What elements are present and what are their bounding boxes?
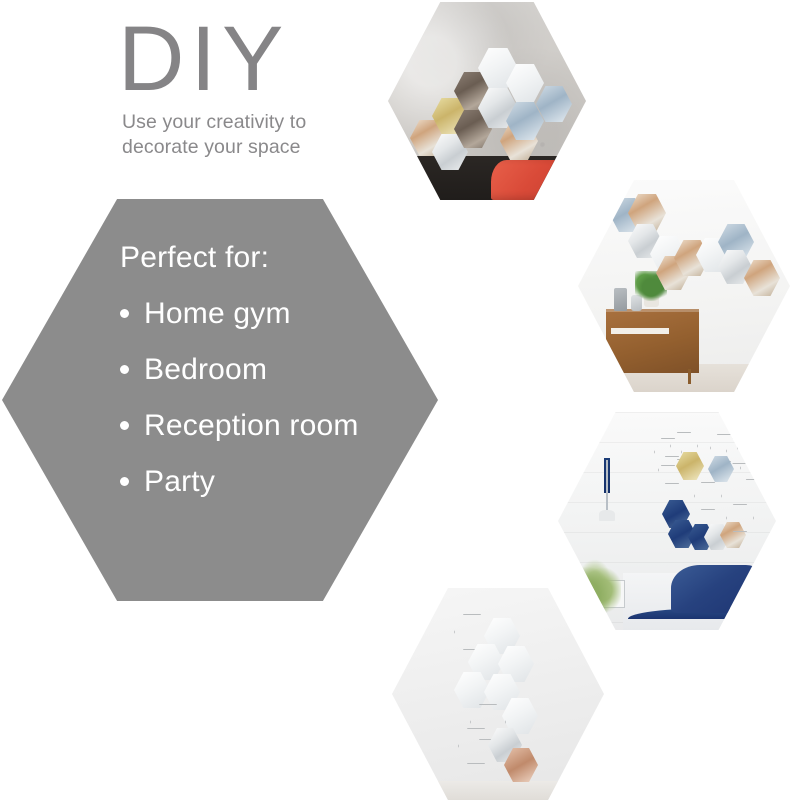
pendant-lamp — [599, 510, 614, 521]
list-item-label: Party — [144, 465, 215, 498]
wooden-sideboard — [606, 309, 699, 373]
scene-bedroom — [558, 412, 776, 630]
photo-concrete-wall-mirror-cluster — [388, 2, 586, 200]
sideboard-leg — [618, 369, 621, 384]
photo-living-room-sideboard — [578, 180, 790, 392]
page-title: DIY — [118, 14, 398, 104]
list-item: Bedroom — [120, 353, 430, 386]
list-item-label: Home gym — [144, 297, 291, 330]
list-item-label: Reception room — [144, 409, 359, 442]
list-item-label: Bedroom — [144, 353, 267, 386]
bullet-dot-icon — [120, 365, 129, 374]
navy-pillow — [671, 565, 767, 613]
dark-bench — [388, 156, 586, 200]
features-hexagon-panel: Perfect for: Home gym Bedroom Reception … — [2, 199, 438, 601]
headline-block: DIY Use your creativity to decorate your… — [118, 14, 398, 159]
bullet-dot-icon — [120, 477, 129, 486]
lamp-cord — [606, 460, 608, 512]
list-item: Reception room — [120, 409, 430, 442]
scene-honeycomb-wall — [392, 588, 604, 800]
features-content: Perfect for: Home gym Bedroom Reception … — [120, 241, 430, 498]
list-item: Party — [120, 465, 430, 498]
bullet-dot-icon — [120, 309, 129, 318]
red-cushion — [491, 160, 578, 200]
features-list: Home gym Bedroom Reception room Party — [120, 297, 430, 498]
vase — [614, 288, 627, 311]
photo-honeycomb-cluster-wall — [392, 588, 604, 800]
subtitle: Use your creativity to decorate your spa… — [122, 110, 398, 159]
scene-living-room — [578, 180, 790, 392]
features-heading: Perfect for: — [120, 241, 430, 275]
palm-plant — [573, 556, 621, 613]
product-infographic: DIY Use your creativity to decorate your… — [0, 0, 800, 800]
bullet-dot-icon — [120, 421, 129, 430]
list-item: Home gym — [120, 297, 430, 330]
subtitle-line-1: Use your creativity to — [122, 110, 398, 135]
sideboard-leg — [688, 369, 691, 384]
subtitle-line-2: decorate your space — [122, 135, 398, 160]
scene-concrete-wall — [388, 2, 586, 200]
photo-bedroom-shiplap-wall — [558, 412, 776, 630]
floor — [392, 781, 604, 800]
